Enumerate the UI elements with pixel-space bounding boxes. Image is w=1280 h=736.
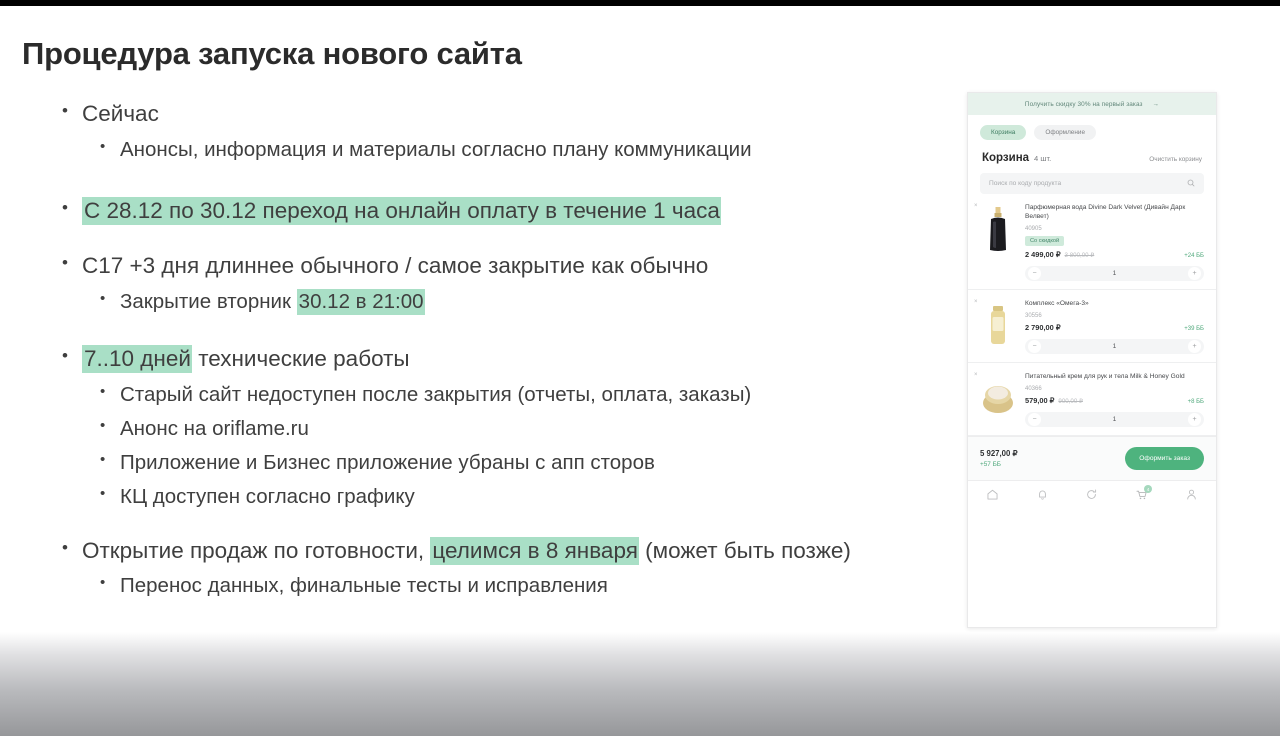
tab-oformlenie[interactable]: Оформление bbox=[1034, 125, 1096, 140]
product-code: 40905 bbox=[1025, 226, 1204, 232]
quantity-value: 1 bbox=[1041, 343, 1188, 350]
bullet-text: Приложение и Бизнес приложение убраны с … bbox=[120, 450, 942, 476]
bullet-text: Анонс на oriflame.ru bbox=[120, 416, 942, 442]
bullet-marker: • bbox=[100, 484, 120, 503]
cart-header: Корзина 4 шт. Очистить корзину bbox=[968, 146, 1216, 164]
product-price: 2 499,00 ₽ bbox=[1025, 250, 1061, 259]
bullet-text: Анонсы, информация и материалы согласно … bbox=[120, 137, 942, 163]
bullet-marker: • bbox=[62, 252, 82, 274]
total-sum: 5 927,00 ₽ bbox=[980, 449, 1017, 458]
bullet-text-highlight: 30.12 в 21:00 bbox=[297, 289, 425, 315]
bullet-text: Закрытие вторник 30.12 в 21:00 bbox=[120, 289, 942, 315]
bullet-marker: • bbox=[100, 382, 120, 401]
quantity-value: 1 bbox=[1041, 270, 1188, 277]
product-name[interactable]: Комплекс «Омега-3» bbox=[1025, 300, 1204, 309]
cart-title: Корзина bbox=[982, 152, 1029, 164]
spacer bbox=[22, 511, 942, 537]
bullet-marker: • bbox=[62, 537, 82, 559]
product-bonus-points: +39 ББ bbox=[1184, 326, 1204, 332]
bullet-text-plain: С17 +3 дня длиннее обычного / самое закр… bbox=[82, 253, 708, 278]
promo-banner-text: Получить скидку 30% на первый заказ bbox=[1025, 101, 1143, 108]
increase-quantity-button[interactable]: + bbox=[1188, 267, 1201, 280]
bullet-text-plain: Приложение и Бизнес приложение убраны с … bbox=[120, 451, 655, 474]
bullet-marker: • bbox=[100, 289, 120, 308]
cart-item-count: 4 шт. bbox=[1034, 154, 1051, 163]
product-thumbnail bbox=[980, 300, 1016, 350]
bullet-text-plain: КЦ доступен согласно графику bbox=[120, 485, 415, 508]
decrease-quantity-button[interactable]: − bbox=[1028, 267, 1041, 280]
bullet-text: Старый сайт недоступен после закрытия (о… bbox=[120, 382, 942, 408]
product-thumbnail bbox=[980, 373, 1016, 423]
bottom-nav: 4 bbox=[968, 480, 1216, 511]
bullet-item-l1: •С17 +3 дня длиннее обычного / самое зак… bbox=[22, 252, 942, 281]
remove-item-button[interactable]: × bbox=[974, 372, 978, 378]
quantity-stepper: − 1 + bbox=[1025, 412, 1204, 427]
bullet-item-l1: •Открытие продаж по готовности, целимся … bbox=[22, 537, 942, 566]
arrow-right-icon: → bbox=[1153, 101, 1160, 108]
bullet-text-plain: Перенос данных, финальные тесты и исправ… bbox=[120, 574, 608, 597]
bullet-text-plain: Анонс на oriflame.ru bbox=[120, 417, 309, 440]
bullet-item-l2: •Закрытие вторник 30.12 в 21:00 bbox=[22, 289, 942, 315]
bullet-text: Гипер опека bbox=[82, 634, 942, 663]
product-price: 579,00 ₽ bbox=[1025, 396, 1054, 405]
spacer bbox=[22, 476, 942, 484]
bullet-item-l2: •Старый сайт недоступен после закрытия (… bbox=[22, 382, 942, 408]
bullet-item-l2: •Перенос данных, финальные тесты и испра… bbox=[22, 573, 942, 599]
bullet-text: 7..10 дней технические работы bbox=[82, 345, 942, 374]
bullet-item-l1: •7..10 дней технические работы bbox=[22, 345, 942, 374]
bullet-text: Сейчас bbox=[82, 100, 942, 129]
quantity-stepper: − 1 + bbox=[1025, 339, 1204, 354]
bullet-text-plain: Анонсы, информация и материалы согласно … bbox=[120, 138, 752, 161]
cart-item: × Питательный крем для рук и тела Milk &… bbox=[968, 363, 1216, 436]
mobile-cart-mockup: Получить скидку 30% на первый заказ → Ко… bbox=[967, 92, 1217, 628]
bullet-text-plain: Закрытие вторник bbox=[120, 290, 297, 313]
decrease-quantity-button[interactable]: − bbox=[1028, 413, 1041, 426]
spacer bbox=[22, 408, 942, 416]
product-code: 40366 bbox=[1025, 386, 1204, 392]
slide: Процедура запуска нового сайта •Сейчас•А… bbox=[0, 0, 1280, 736]
bullet-text-plain: Старый сайт недоступен после закрытия (о… bbox=[120, 383, 751, 406]
page-title: Процедура запуска нового сайта bbox=[22, 36, 522, 72]
profile-icon[interactable] bbox=[1185, 488, 1198, 503]
cart-product-list: × Парфюмерная вода Divine Dark Velvet (Д… bbox=[968, 194, 1216, 436]
product-bonus-points: +24 ББ bbox=[1184, 253, 1204, 259]
bullet-text-plain: технические работы bbox=[192, 346, 410, 371]
search-icon[interactable] bbox=[1187, 179, 1195, 189]
product-name[interactable]: Парфюмерная вода Divine Dark Velvet (Див… bbox=[1025, 204, 1204, 222]
spacer bbox=[22, 662, 942, 670]
remove-item-button[interactable]: × bbox=[974, 299, 978, 305]
top-letterbox-bar bbox=[0, 0, 1280, 6]
spacer bbox=[22, 442, 942, 450]
cart-item: × Комплекс «Омега-3» 30556 2 790,00 ₽ +3… bbox=[968, 290, 1216, 363]
bullet-text-highlight: 7..10 дней bbox=[82, 345, 192, 373]
remove-item-button[interactable]: × bbox=[974, 203, 978, 209]
spacer bbox=[22, 281, 942, 289]
cart-icon[interactable]: 4 bbox=[1135, 488, 1148, 503]
bullet-item-l2: •Анонсы, информация и материалы согласно… bbox=[22, 137, 942, 163]
increase-quantity-button[interactable]: + bbox=[1188, 413, 1201, 426]
bullet-text: С 28.12 по 30.12 переход на онлайн оплат… bbox=[82, 197, 942, 226]
search-placeholder: Поиск по коду продукта bbox=[989, 180, 1061, 187]
cart-totals: 5 927,00 ₽ +57 ББ Оформить заказ bbox=[968, 436, 1216, 480]
bullet-text: Открытие продаж по готовности, целимся в… bbox=[82, 537, 942, 566]
bullet-marker: • bbox=[62, 345, 82, 367]
bullet-text: КЦ доступен согласно графику bbox=[120, 484, 942, 510]
bullet-marker: • bbox=[62, 100, 82, 122]
bullet-item-l2: •Приложение и Бизнес приложение убраны с… bbox=[22, 450, 942, 476]
spacer bbox=[22, 565, 942, 573]
product-thumbnail bbox=[980, 204, 1016, 254]
product-name[interactable]: Питательный крем для рук и тела Milk & H… bbox=[1025, 373, 1204, 382]
product-bonus-points: +8 ББ bbox=[1188, 399, 1204, 405]
clear-cart-button[interactable]: Очистить корзину bbox=[1149, 156, 1202, 163]
product-old-price: 900,00 ₽ bbox=[1058, 398, 1083, 405]
bullet-marker: • bbox=[100, 573, 120, 592]
home-icon[interactable] bbox=[986, 488, 999, 503]
bullet-text-plain: Гипер опека bbox=[82, 635, 209, 660]
bullet-text-plain: Сейчас bbox=[82, 101, 159, 126]
bullet-item-l1: •Сейчас bbox=[22, 100, 942, 129]
bullet-text-highlight: целимся в 8 января bbox=[430, 537, 639, 565]
product-price: 2 790,00 ₽ bbox=[1025, 323, 1061, 332]
bullet-marker: • bbox=[62, 197, 82, 219]
checkout-button[interactable]: Оформить заказ bbox=[1125, 447, 1204, 470]
product-code: 30556 bbox=[1025, 313, 1204, 319]
bullet-marker: • bbox=[100, 416, 120, 435]
spacer bbox=[22, 163, 942, 197]
promo-banner[interactable]: Получить скидку 30% на первый заказ → bbox=[968, 93, 1216, 115]
bullet-marker: • bbox=[62, 634, 82, 656]
bell-icon[interactable] bbox=[1036, 488, 1049, 503]
bullet-marker: • bbox=[100, 450, 120, 469]
bullet-text-highlight: С 28.12 по 30.12 переход на онлайн оплат… bbox=[82, 197, 721, 225]
cart-step-tabs: Корзина Оформление bbox=[968, 115, 1216, 146]
quantity-stepper: − 1 + bbox=[1025, 266, 1204, 281]
search-refresh-icon[interactable] bbox=[1085, 488, 1098, 503]
bullet-marker: • bbox=[100, 137, 120, 156]
spacer bbox=[22, 600, 942, 634]
spacer bbox=[22, 226, 942, 252]
bullet-text-plain: (может быть позже) bbox=[639, 538, 851, 563]
total-bonus-points: +57 ББ bbox=[980, 461, 1017, 468]
spacer bbox=[22, 129, 942, 137]
product-old-price: 3 800,00 ₽ bbox=[1065, 252, 1095, 259]
bullet-text: С17 +3 дня длиннее обычного / самое закр… bbox=[82, 252, 942, 281]
bullet-item-l2: •Анонс на oriflame.ru bbox=[22, 416, 942, 442]
bullet-text: Перенос данных, финальные тесты и исправ… bbox=[120, 573, 942, 599]
tab-korzina[interactable]: Корзина bbox=[980, 125, 1026, 140]
bullet-item-l1: •С 28.12 по 30.12 переход на онлайн опла… bbox=[22, 197, 942, 226]
decrease-quantity-button[interactable]: − bbox=[1028, 340, 1041, 353]
bullet-item-l2: •КЦ доступен согласно графику bbox=[22, 484, 942, 510]
bullet-item-l1: • Гипер опека bbox=[22, 634, 942, 663]
spacer bbox=[22, 374, 942, 382]
quantity-value: 1 bbox=[1041, 416, 1188, 423]
bullet-text-plain: Открытие продаж по готовности, bbox=[82, 538, 430, 563]
spacer bbox=[22, 315, 942, 345]
discount-badge: Со скидкой bbox=[1025, 236, 1064, 246]
increase-quantity-button[interactable]: + bbox=[1188, 340, 1201, 353]
cart-item: × Парфюмерная вода Divine Dark Velvet (Д… bbox=[968, 194, 1216, 290]
product-code-search[interactable]: Поиск по коду продукта bbox=[980, 173, 1204, 194]
cart-badge-count: 4 bbox=[1144, 485, 1152, 493]
bullet-list: •Сейчас•Анонсы, информация и материалы с… bbox=[22, 100, 942, 670]
